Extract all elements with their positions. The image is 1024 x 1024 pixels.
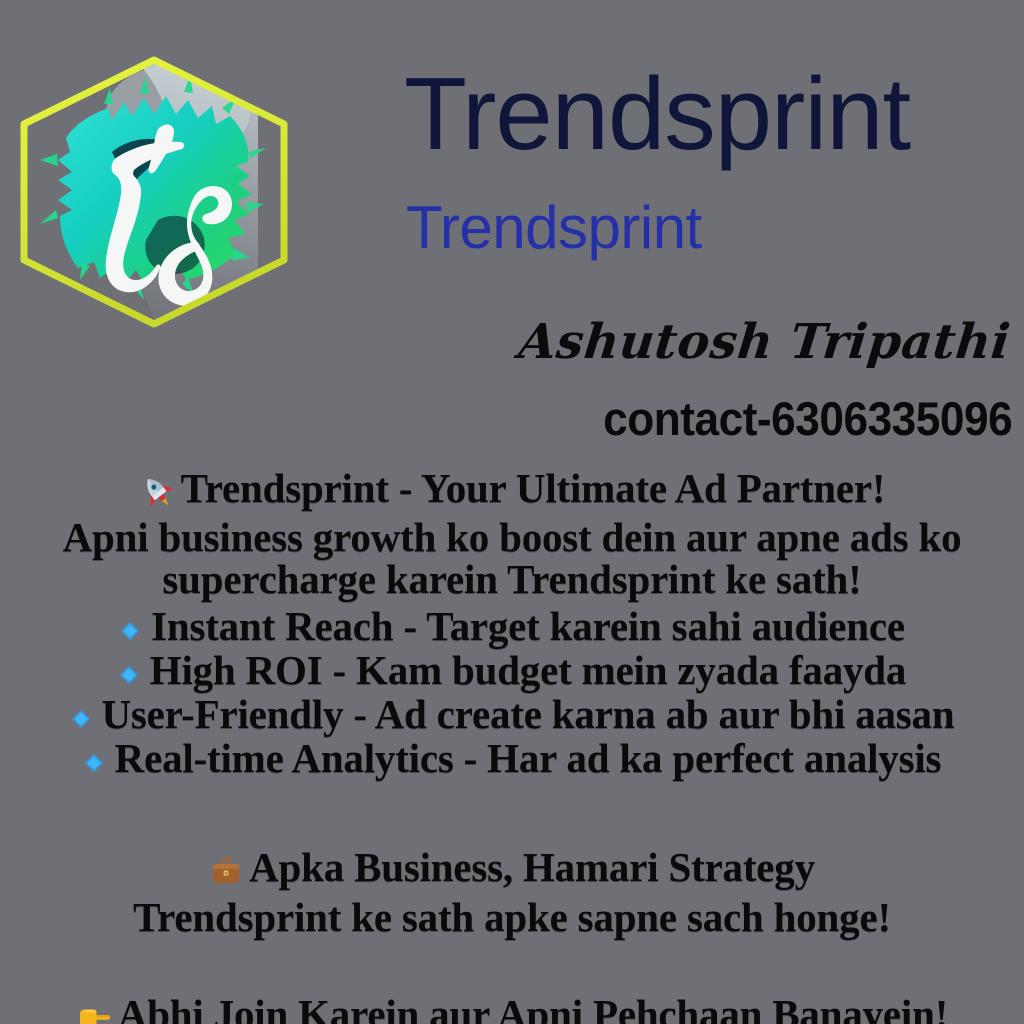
cta-block: Abhi Join Karein aur Apni Pehchaan Banay… — [0, 994, 1024, 1024]
hexagon-logo-icon — [8, 42, 300, 342]
cta-line-text: Abhi Join Karein aur Apni Pehchaan Banay… — [118, 991, 948, 1024]
pointing-right-icon — [76, 1001, 112, 1024]
closing-line-text: Apka Business, Hamari Strategy — [249, 844, 815, 890]
poster-body: Trendsprint - Your Ultimate Ad Partner! … — [0, 468, 1024, 1024]
blue-diamond-icon — [118, 652, 140, 693]
signature-name: Ashutosh Tripathi — [516, 318, 1012, 366]
blue-diamond-icon — [70, 696, 92, 737]
blue-diamond-icon — [83, 740, 105, 781]
hero-line: Apni business growth ko boost dein aur a… — [0, 517, 1024, 558]
cta-line: Abhi Join Karein aur Apni Pehchaan Banay… — [0, 994, 1024, 1024]
hero-line: supercharge karein Trendsprint ke sath! — [0, 559, 1024, 600]
poster-header: Trendsprint Trendsprint Ashutosh Tripath… — [0, 0, 1024, 460]
brand-title: Trendsprint — [404, 62, 910, 165]
hero-line-text: Trendsprint - Your Ultimate Ad Partner! — [181, 465, 886, 511]
closing-line: Apka Business, Hamari Strategy — [0, 847, 1024, 895]
list-item: Instant Reach - Target karein sahi audie… — [0, 606, 1024, 649]
list-item-text: Real-time Analytics - Har ad ka perfect … — [115, 735, 942, 781]
list-item-text: High ROI - Kam budget mein zyada faayda — [150, 647, 906, 693]
poster-canvas: Trendsprint Trendsprint Ashutosh Tripath… — [0, 0, 1024, 1024]
briefcase-icon — [209, 854, 243, 895]
hero-line: Trendsprint - Your Ultimate Ad Partner! — [0, 468, 1024, 516]
list-item: Real-time Analytics - Har ad ka perfect … — [0, 738, 1024, 781]
list-item-text: User-Friendly - Ad create karna ab aur b… — [102, 691, 955, 737]
brand-logo — [8, 42, 300, 342]
closing-block: Apka Business, Hamari Strategy Trendspri… — [0, 847, 1024, 938]
contact-number[interactable]: contact-6306335096 — [603, 395, 1012, 442]
list-item-text: Instant Reach - Target karein sahi audie… — [151, 603, 905, 649]
hero-block: Trendsprint - Your Ultimate Ad Partner! … — [0, 468, 1024, 600]
rocket-icon — [139, 473, 175, 516]
feature-bullets: Instant Reach - Target karein sahi audie… — [0, 606, 1024, 781]
closing-line: Trendsprint ke sath apke sapne sach hong… — [0, 897, 1024, 938]
list-item: High ROI - Kam budget mein zyada faayda — [0, 650, 1024, 693]
brand-subtitle: Trendsprint — [406, 198, 702, 258]
list-item: User-Friendly - Ad create karna ab aur b… — [0, 694, 1024, 737]
blue-diamond-icon — [119, 608, 141, 649]
